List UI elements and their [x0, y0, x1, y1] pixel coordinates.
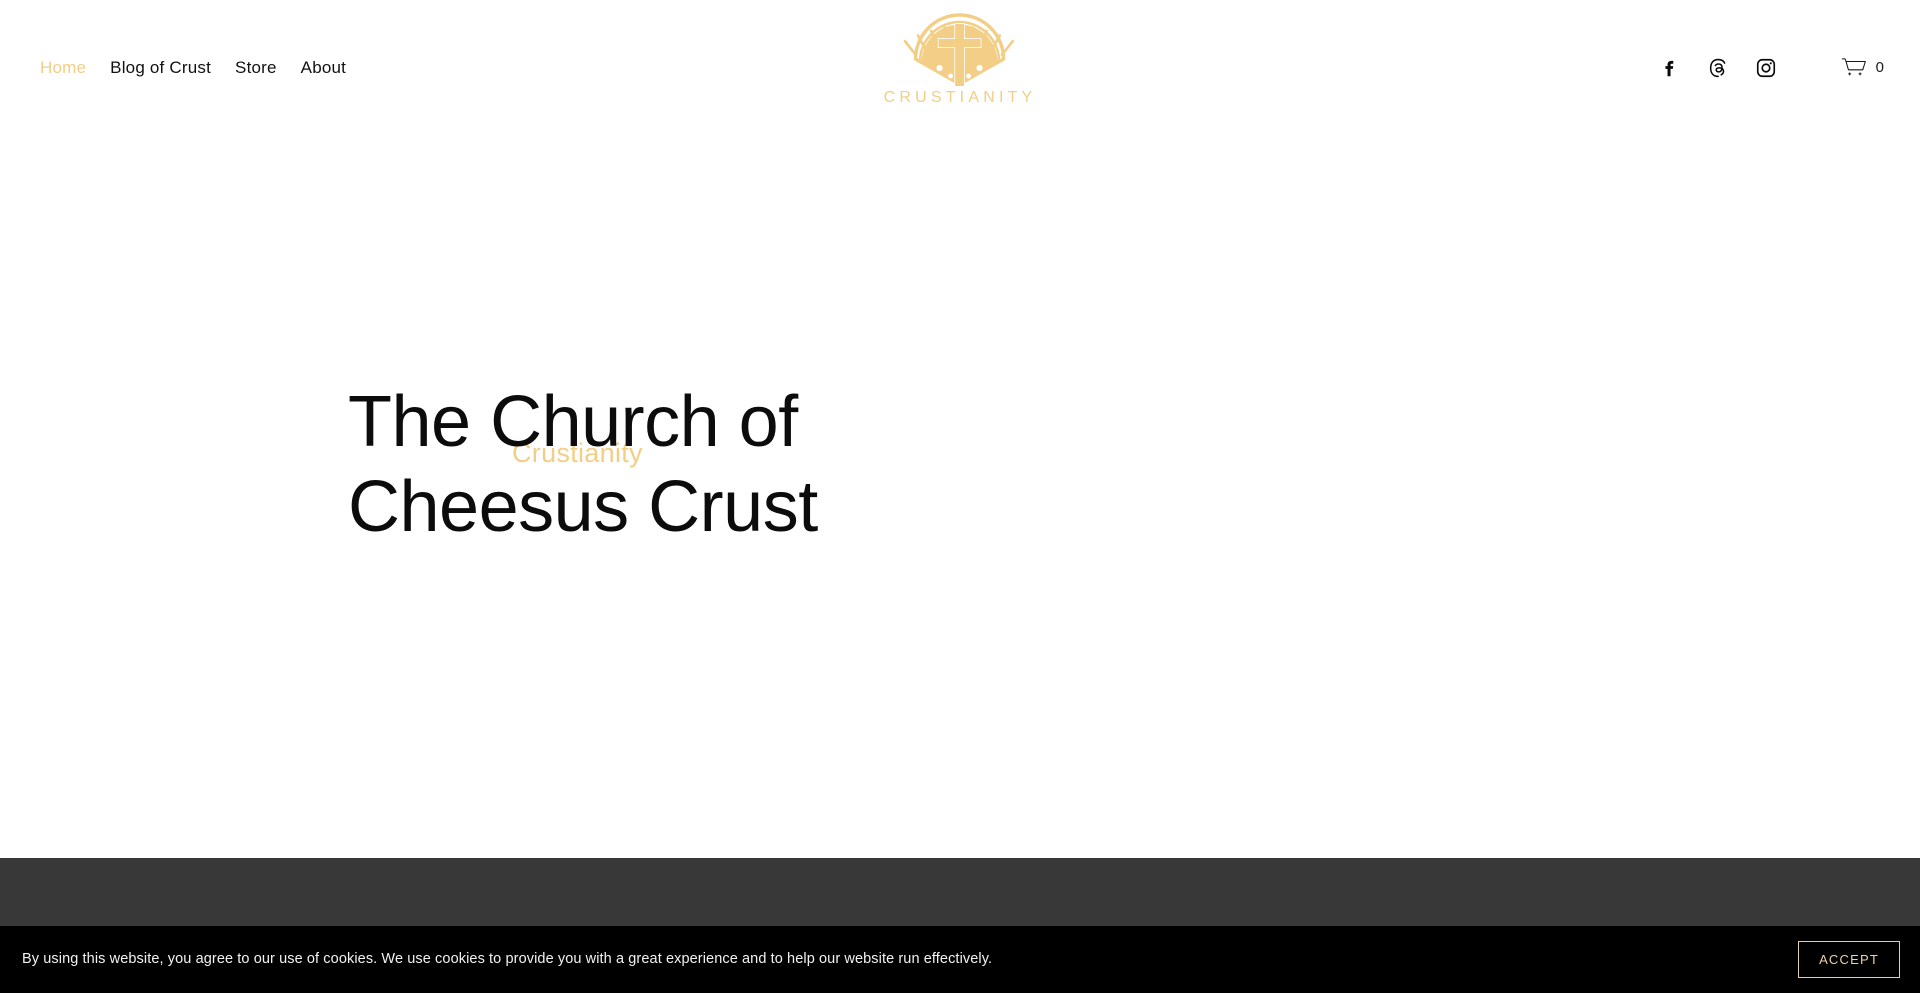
logo-wordmark: CRUSTIANITY — [884, 90, 1037, 106]
primary-navigation: Home Blog of Crust Store About — [38, 0, 348, 135]
cart-item-count: 0 — [1876, 60, 1884, 75]
threads-icon[interactable] — [1705, 55, 1731, 81]
cookie-consent-banner: By using this website, you agree to our … — [0, 926, 1920, 993]
hero-title: The Church of Cheesus Crust — [348, 380, 818, 550]
header-right-group: 0 — [1657, 0, 1884, 135]
cookie-accept-button[interactable]: ACCEPT — [1798, 941, 1900, 978]
facebook-icon[interactable] — [1657, 55, 1683, 81]
site-header: Home Blog of Crust Store About — [0, 0, 1920, 135]
cart-button[interactable]: 0 — [1841, 57, 1884, 79]
social-links — [1657, 55, 1779, 81]
nav-item-blog-of-crust[interactable]: Blog of Crust — [108, 55, 213, 80]
nav-item-store[interactable]: Store — [233, 55, 279, 80]
cookie-message: By using this website, you agree to our … — [22, 949, 992, 969]
nav-item-about[interactable]: About — [299, 55, 348, 80]
nav-item-home[interactable]: Home — [38, 55, 88, 80]
shopping-cart-icon — [1841, 57, 1867, 79]
hero-section: Crustianity The Church of Cheesus Crust — [0, 135, 1920, 858]
site-logo[interactable]: CRUSTIANITY — [884, 12, 1037, 106]
footer-band — [0, 858, 1920, 926]
pizza-cross-sunburst-icon — [896, 12, 1024, 86]
instagram-icon[interactable] — [1753, 55, 1779, 81]
